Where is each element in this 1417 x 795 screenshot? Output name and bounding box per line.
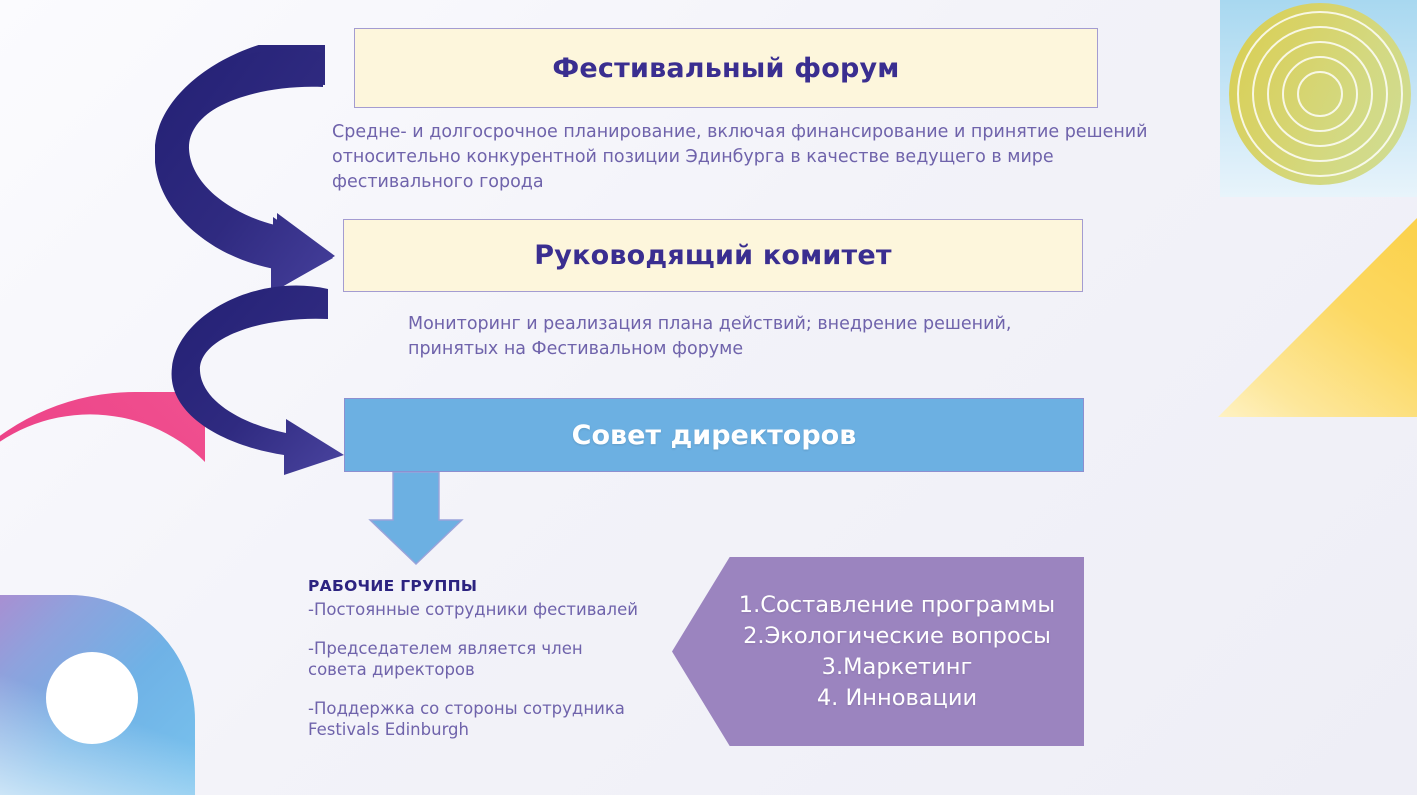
themes-line: 3.Маркетинг [739,652,1055,683]
working-groups-block: РАБОЧИЕ ГРУППЫ -Постоянные сотрудники фе… [308,577,638,741]
themes-line: 4. Инновации [739,683,1055,714]
working-groups-title: РАБОЧИЕ ГРУППЫ [308,577,638,595]
blue-rounded-square [0,595,195,795]
steering-committee-title: Руководящий комитет [534,240,891,271]
steering-committee-box: Руководящий комитет [343,219,1083,292]
board-of-directors-box: Совет директоров [344,398,1084,472]
steering-committee-description: Мониторинг и реализация плана действий; … [408,312,1048,362]
working-groups-item: -Постоянные сотрудники фестивалей [308,599,638,621]
blue-square-highlight [0,595,195,795]
circle-icon [46,652,138,744]
curved-loop-arrow-icon [168,285,358,475]
festival-forum-title: Фестивальный форум [552,53,899,84]
themes-line: 2.Экологические вопросы [739,621,1055,652]
working-groups-item: -Поддержка со стороны сотрудника Festiva… [308,698,638,741]
festival-forum-box: Фестивальный форум [354,28,1098,108]
working-groups-item: -Председателем является член совета дире… [308,638,638,681]
curved-loop-arrow-icon [155,45,355,295]
slide-canvas: Фестивальный форум Средне- и долгосрочно… [0,0,1417,795]
themes-list: 1.Составление программы 2.Экологические … [701,590,1055,714]
down-arrow-icon [366,472,466,566]
quarter-arc-icon [0,392,205,692]
themes-chevron: 1.Составление программы 2.Экологические … [672,557,1084,746]
rings-backdrop-square [1220,0,1417,197]
board-of-directors-title: Совет директоров [572,420,857,451]
concentric-rings-icon [1229,3,1411,185]
themes-line: 1.Составление программы [739,590,1055,621]
triangle-icon [1218,218,1417,417]
festival-forum-description: Средне- и долгосрочное планирование, вкл… [332,120,1172,195]
